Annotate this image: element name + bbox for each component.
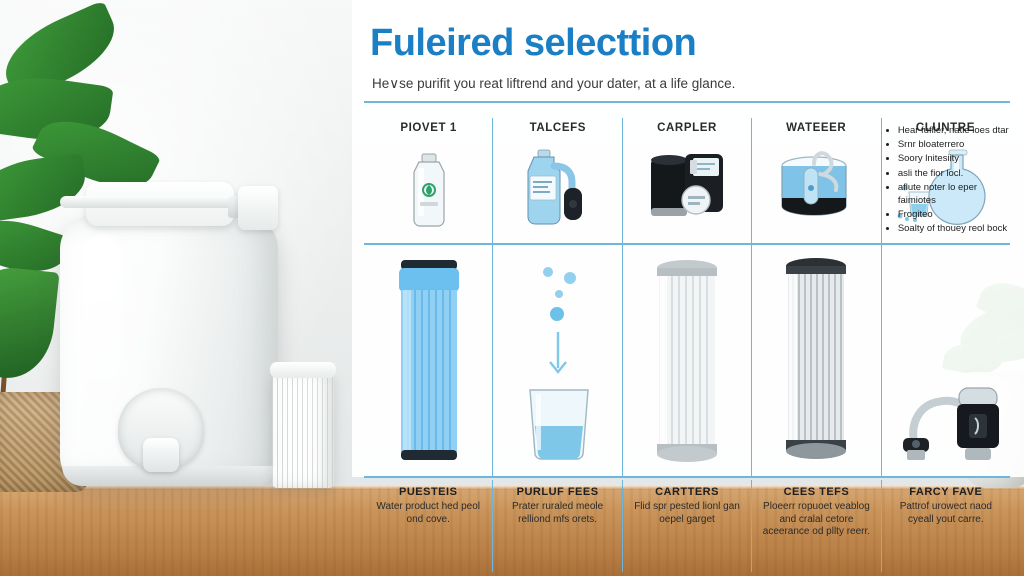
list-item: Soalty of thouey reol bock <box>898 222 1012 235</box>
list-item: Frogiteo <box>898 208 1012 221</box>
steel-filter-cartridge-icon <box>758 254 874 468</box>
white-filter-cartridge-icon <box>629 254 745 468</box>
dispenser-handle <box>60 196 250 208</box>
caption-body: Ploeerr ropuoet veablog and cralal cetor… <box>758 501 874 539</box>
infographic-content: Fuleired selecttion He∨se purifit you re… <box>352 0 1024 576</box>
caption-cell-2[interactable]: PURLUF FEES Prater ruraled meole rellion… <box>493 480 622 572</box>
canister-body <box>272 370 334 488</box>
canister-lid <box>270 362 336 378</box>
product-column-4[interactable] <box>752 118 881 477</box>
caption-title: CEES TEFS <box>758 486 874 498</box>
product-column-3[interactable] <box>622 118 751 477</box>
caption-title: FARCY FAVE <box>888 486 1004 498</box>
caption-title: PURLUF FEES <box>499 486 615 498</box>
caption-cell-3[interactable]: CARTTERS Flid spr pested lionl gan oepel… <box>623 480 752 572</box>
caption-body: Pattrof urowect naod cyeall yout carre. <box>888 501 1004 526</box>
product-column-1[interactable] <box>364 118 493 477</box>
caption-body: Water product hed peol ond cove. <box>370 501 486 526</box>
dispenser-tap-knob <box>143 438 179 472</box>
dispenser-cap <box>238 186 278 230</box>
caption-body: Flid spr pested lionl gan oepel garget <box>629 501 745 526</box>
dispenser-highlight <box>82 235 122 435</box>
caption-body: Prater ruraled meole relliond mfs orets. <box>499 501 615 526</box>
page-subtitle: He∨se purifit you reat liftrend and your… <box>372 76 735 92</box>
product-column-2[interactable] <box>493 118 622 477</box>
droplets-into-glass-icon <box>500 254 616 468</box>
faucet-adapter-icon <box>885 368 1009 468</box>
blue-spray-bottle-icon <box>504 146 612 232</box>
title-divider <box>364 101 1010 103</box>
blue-filter-cartridge-icon <box>371 254 487 468</box>
list-item: asli the fior locl. <box>898 167 1012 180</box>
blue-pot-with-faucet-icon <box>762 146 870 232</box>
page-title: Fuleired selecttion <box>370 22 696 65</box>
clear-bottle-icon <box>375 146 483 232</box>
list-item: aflute noter lo eper faimiotes <box>898 181 1012 207</box>
caption-cell-5[interactable]: FARCY FAVE Pattrof urowect naod cyeall y… <box>882 480 1010 572</box>
list-item: Hear fufller, natle loes dtar <box>898 124 1012 137</box>
screenshot-stage: Fuleired selecttion He∨se purifit you re… <box>0 0 1024 576</box>
caption-cell-1[interactable]: PUESTEIS Water product hed peol ond cove… <box>364 480 493 572</box>
caption-title: PUESTEIS <box>370 486 486 498</box>
list-item: Soory lnitesiity <box>898 152 1012 165</box>
product-column-5[interactable]: Hear fufller, natle loes dtar Srnr bloat… <box>881 118 1010 477</box>
benefits-list: Hear fufller, natle loes dtar Srnr bloat… <box>887 124 1016 237</box>
black-canister-unit-icon <box>633 146 741 232</box>
list-item: Srnr bloaterrero <box>898 138 1012 151</box>
caption-row: PUESTEIS Water product hed peol ond cove… <box>364 480 1010 572</box>
caption-cell-4[interactable]: CEES TEFS Ploeerr ropuoet veablog and cr… <box>752 480 881 572</box>
caption-title: CARTTERS <box>629 486 745 498</box>
product-cells: Hear fufller, natle loes dtar Srnr bloat… <box>364 118 1010 477</box>
